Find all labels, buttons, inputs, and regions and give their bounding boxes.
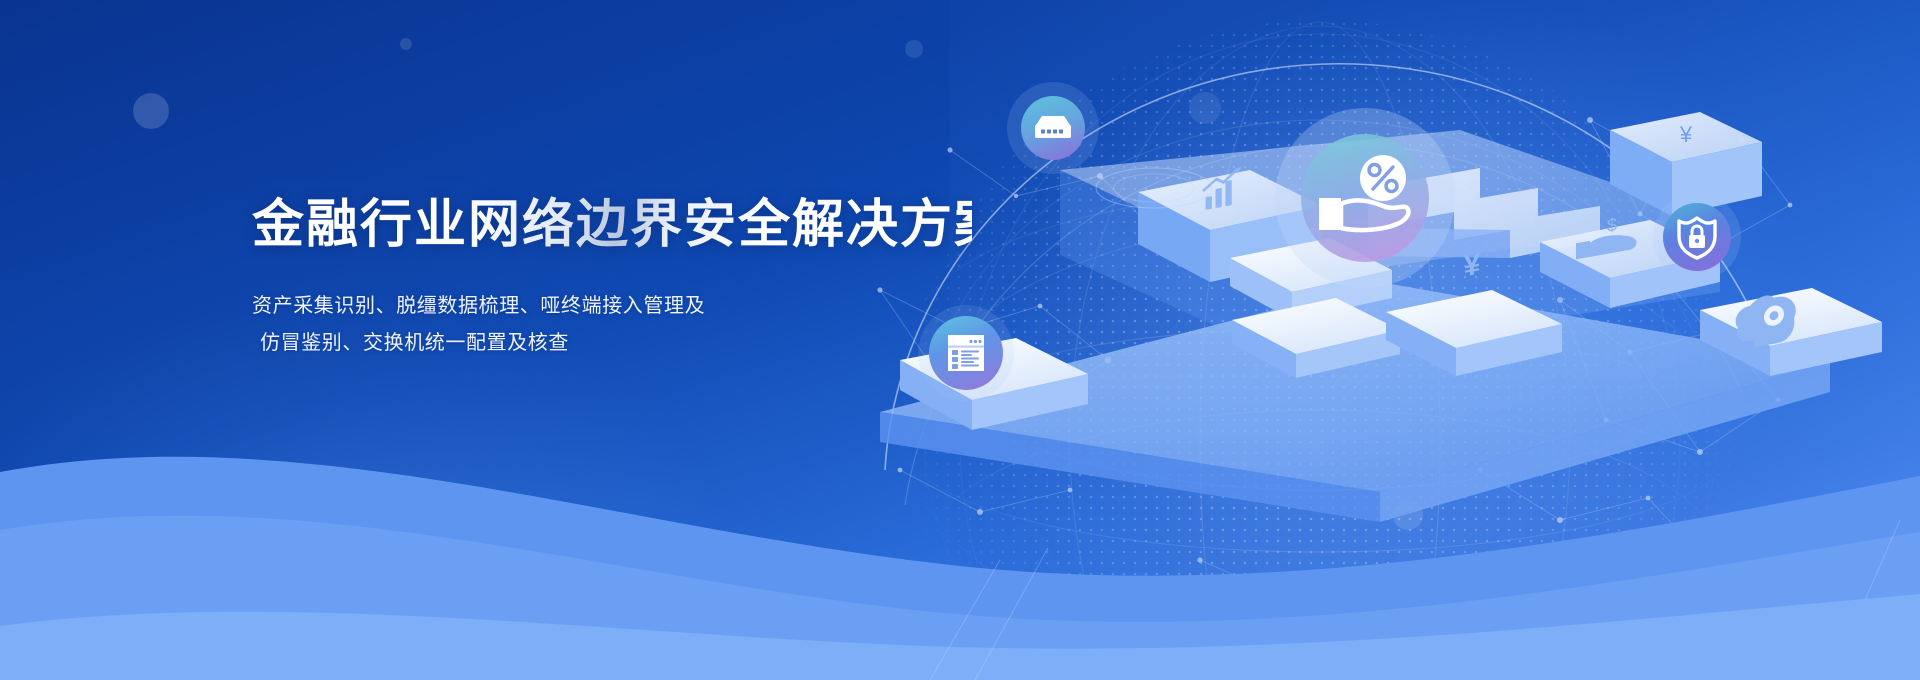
svg-text:¥: ¥ xyxy=(1679,122,1693,147)
shield-lock-icon xyxy=(1676,214,1718,260)
badge-shield-lock[interactable] xyxy=(1653,193,1741,281)
server-switch-icon xyxy=(1030,111,1076,145)
hand-percent-icon xyxy=(1311,154,1419,242)
hero-banner: 金融行业网络边界安全解决方案 资产采集识别、脱缰数据梳理、哑终端接入管理及 仿冒… xyxy=(0,0,1920,680)
svg-text:$: $ xyxy=(1607,214,1617,236)
document-list-icon xyxy=(943,330,989,376)
badge-switch[interactable] xyxy=(1007,82,1099,174)
bokeh-dot xyxy=(133,93,169,129)
svg-text:¥: ¥ xyxy=(1464,248,1481,284)
bokeh-dot xyxy=(400,38,412,50)
bottom-waves xyxy=(0,380,1920,680)
badge-hand-percent[interactable] xyxy=(1275,108,1455,288)
